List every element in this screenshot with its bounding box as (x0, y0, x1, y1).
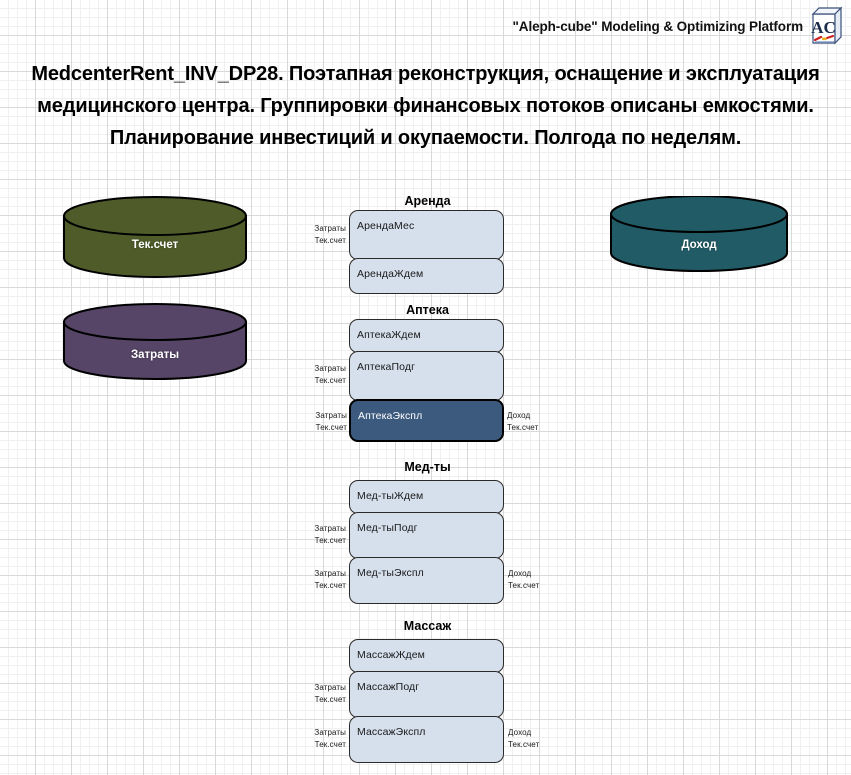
port-label-account: Тек.счет (286, 694, 346, 706)
port-label-account: Тек.счет (286, 375, 346, 387)
port-label-account: Тек.счет (508, 580, 568, 592)
port-label-source: Затраты (286, 523, 346, 535)
port-label-account: Тек.счет (286, 580, 346, 592)
page-title: MedcenterRent_INV_DP28. Поэтапная реконс… (0, 58, 851, 154)
port-label-account: Тек.счет (286, 739, 346, 751)
group-arenda: Аренда АрендаМес Затраты Тек.счет Аренда… (300, 194, 555, 294)
port-left-arenda-mes: Затраты Тек.счет (286, 223, 350, 247)
port-label-source: Затраты (286, 363, 346, 375)
process-box-label: АптекаЖдем (357, 329, 421, 341)
cylinder-label: Затраты (62, 349, 248, 361)
port-left-medty-ekspl: Затраты Тек.счет (286, 568, 350, 592)
group-header: Аренда (300, 194, 555, 208)
port-left-massazh-ekspl: Затраты Тек.счет (286, 727, 350, 751)
port-label-income: Доход (508, 568, 568, 580)
group-header: Аптека (300, 303, 555, 317)
cylinder-shape (609, 196, 789, 278)
brand-bar: "Aleph-cube" Modeling & Optimizing Platf… (513, 6, 844, 46)
group-med-ty: Мед-ты Мед-тыЖдем Мед-тыПодг Затраты Тек… (300, 460, 555, 610)
process-box-label: АрендаЖдем (357, 268, 423, 280)
port-label-account: Тек.счет (286, 235, 346, 247)
cylinder-zatraty[interactable]: Затраты (62, 303, 248, 387)
process-box-label: МассажЭкспл (357, 726, 426, 738)
process-box-label: АрендаМес (357, 220, 414, 232)
port-right-apteka-ekspl: Доход Тек.счет (502, 410, 567, 434)
cylinder-dohod[interactable]: Доход (609, 196, 789, 278)
svg-text:AC: AC (811, 18, 836, 37)
port-right-massazh-ekspl: Доход Тек.счет (503, 727, 568, 751)
process-box-label: МассажЖдем (357, 649, 425, 661)
port-label-account: Тек.счет (287, 422, 347, 434)
port-left-massazh-podg: Затраты Тек.счет (286, 682, 350, 706)
process-box-medty-podg[interactable]: Мед-тыПодг Затраты Тек.счет (349, 512, 504, 559)
process-box-medty-ekspl[interactable]: Мед-тыЭкспл Затраты Тек.счет Доход Тек.с… (349, 557, 504, 604)
port-label-account: Тек.счет (508, 739, 568, 751)
platform-title: "Aleph-cube" Modeling & Optimizing Platf… (513, 19, 804, 34)
process-box-label: АптекаЭкспл (358, 410, 422, 422)
process-box-label: МассажПодг (357, 681, 419, 693)
cylinder-label: Доход (609, 239, 789, 251)
process-box-massazh-zhdem[interactable]: МассажЖдем (349, 639, 504, 673)
process-box-label: Мед-тыЖдем (357, 490, 423, 502)
process-box-arenda-mes[interactable]: АрендаМес Затраты Тек.счет (349, 210, 504, 260)
process-box-apteka-ekspl[interactable]: АптекаЭкспл Затраты Тек.счет Доход Тек.с… (349, 399, 504, 442)
port-label-account: Тек.счет (286, 535, 346, 547)
group-header: Мед-ты (300, 460, 555, 474)
process-box-medty-zhdem[interactable]: Мед-тыЖдем (349, 480, 504, 514)
process-box-arenda-zhdem[interactable]: АрендаЖдем (349, 258, 504, 294)
port-left-apteka-podg: Затраты Тек.счет (286, 363, 350, 387)
process-box-massazh-ekspl[interactable]: МассажЭкспл Затраты Тек.счет Доход Тек.с… (349, 716, 504, 763)
cylinder-label: Тек.счет (62, 239, 248, 251)
group-apteka: Аптека АптекаЖдем АптекаПодг Затраты Тек… (300, 303, 555, 453)
process-box-label: Мед-тыПодг (357, 522, 418, 534)
port-label-source: Затраты (286, 223, 346, 235)
port-label-income: Доход (507, 410, 567, 422)
port-right-medty-ekspl: Доход Тек.счет (503, 568, 568, 592)
port-label-source: Затраты (287, 410, 347, 422)
cylinder-shape (62, 303, 248, 387)
port-label-source: Затраты (286, 568, 346, 580)
group-header: Массаж (300, 619, 555, 633)
process-box-label: Мед-тыЭкспл (357, 567, 424, 579)
process-box-apteka-podg[interactable]: АптекаПодг Затраты Тек.счет (349, 351, 504, 401)
cylinder-tek-schet[interactable]: Тек.счет (62, 196, 248, 290)
process-box-label: АптекаПодг (357, 361, 415, 373)
port-label-account: Тек.счет (507, 422, 567, 434)
aleph-cube-logo-icon: AC (811, 6, 843, 46)
port-left-medty-podg: Затраты Тек.счет (286, 523, 350, 547)
port-label-income: Доход (508, 727, 568, 739)
group-massazh: Массаж МассажЖдем МассажПодг Затраты Тек… (300, 619, 555, 769)
port-left-apteka-ekspl: Затраты Тек.счет (287, 410, 351, 434)
port-label-source: Затраты (286, 682, 346, 694)
process-box-massazh-podg[interactable]: МассажПодг Затраты Тек.счет (349, 671, 504, 718)
process-box-apteka-zhdem[interactable]: АптекаЖдем (349, 319, 504, 353)
port-label-source: Затраты (286, 727, 346, 739)
